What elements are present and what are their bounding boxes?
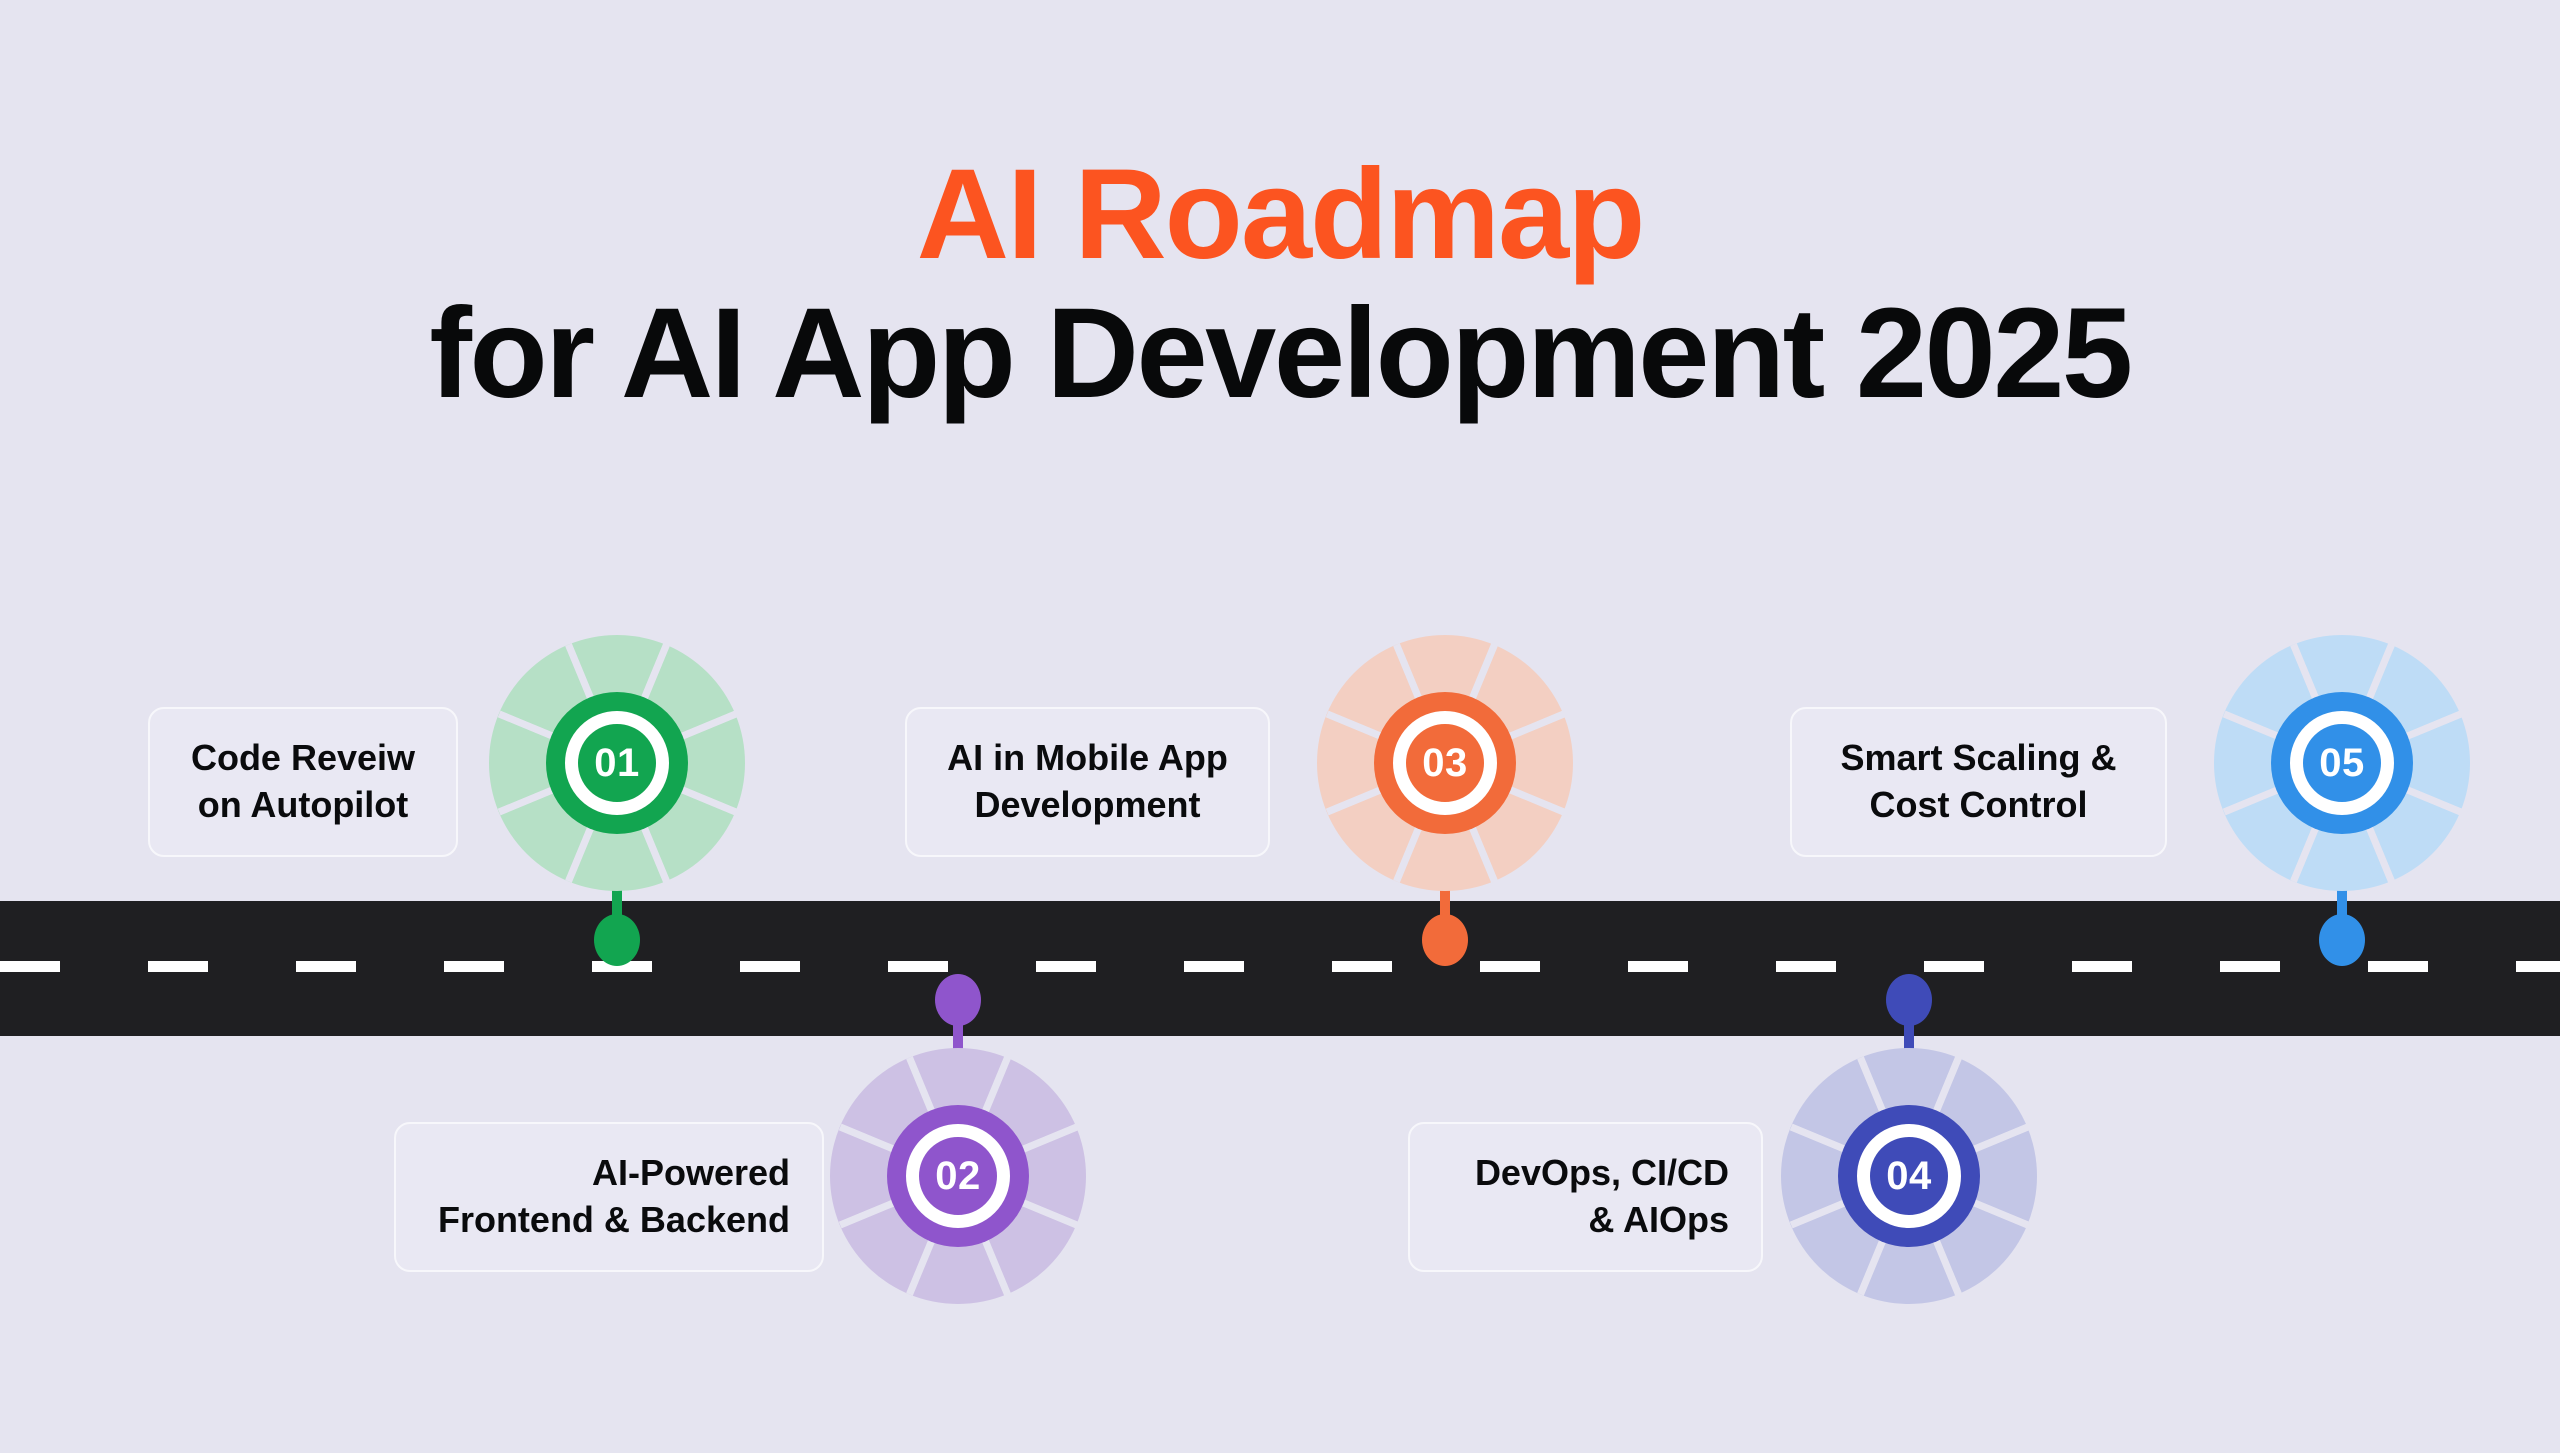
milestone-badge[interactable]: 01 [489,635,745,891]
page-title-secondary: for AI App Development 2025 [0,289,2560,420]
milestone-disc: 01 [546,692,688,834]
milestone-number: 02 [935,1156,981,1196]
milestone-disc: 02 [887,1105,1029,1247]
milestone-badge[interactable]: 02 [830,1048,1086,1304]
road-marker-dot [935,974,981,1026]
road-dashes [0,961,2560,972]
road-marker-dot [1886,974,1932,1026]
milestone-label-card[interactable]: AI in Mobile App Development [905,707,1270,857]
milestone-label-card[interactable]: Code Reveiw on Autopilot [148,707,458,857]
milestone-number: 04 [1886,1156,1932,1196]
road-marker-dot [2319,914,2365,966]
milestone-label-card[interactable]: AI-Powered Frontend & Backend [394,1122,824,1272]
milestone-number: 01 [594,743,640,783]
milestone-badge[interactable]: 04 [1781,1048,2037,1304]
milestone-number: 03 [1422,743,1468,783]
milestone-badge[interactable]: 03 [1317,635,1573,891]
page-title-primary: AI Roadmap [0,150,2560,281]
title-block: AI Roadmap for AI App Development 2025 [0,150,2560,419]
road-marker-dot [594,914,640,966]
milestone-badge[interactable]: 05 [2214,635,2470,891]
milestone-label-card[interactable]: Smart Scaling & Cost Control [1790,707,2167,857]
milestone-disc: 05 [2271,692,2413,834]
road-marker-dot [1422,914,1468,966]
road-strip [0,901,2560,1036]
milestone-disc: 03 [1374,692,1516,834]
milestone-number: 05 [2319,743,2365,783]
milestone-disc: 04 [1838,1105,1980,1247]
milestone-label-card[interactable]: DevOps, CI/CD & AIOps [1408,1122,1763,1272]
roadmap-canvas: AI Roadmap for AI App Development 2025 0… [0,0,2560,1453]
